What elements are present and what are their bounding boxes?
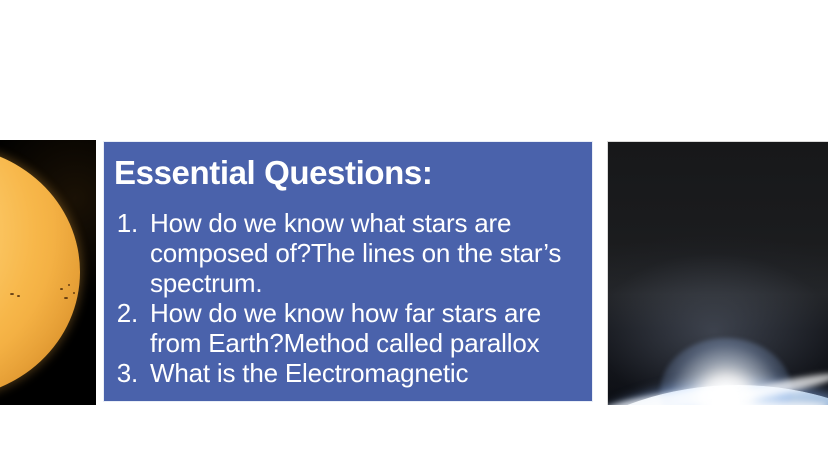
sunspot — [68, 284, 70, 286]
sunspot — [73, 292, 75, 294]
sun-photograph — [0, 140, 96, 405]
sunspot — [17, 295, 20, 297]
list-item-text: How do we know what stars are composed o… — [150, 208, 582, 298]
essential-questions-list: 1. How do we know what stars are compose… — [104, 208, 593, 388]
slide-canvas: Essential Questions: 1. How do we know w… — [0, 0, 828, 466]
list-item: 2. How do we know how far stars are from… — [104, 298, 593, 358]
list-item-text: What is the Electromagnetic — [150, 358, 582, 388]
sunspot — [10, 293, 14, 295]
list-item: 1. How do we know what stars are compose… — [104, 208, 593, 298]
list-item: 3. What is the Electromagnetic — [104, 358, 593, 388]
list-item-number: 2. — [104, 298, 138, 328]
sunspot — [64, 297, 68, 299]
list-item-number: 3. — [104, 358, 138, 388]
list-item-text: How do we know how far stars are from Ea… — [150, 298, 582, 358]
page-title: Essential Questions: — [114, 156, 584, 191]
essential-questions-panel: Essential Questions: 1. How do we know w… — [103, 141, 593, 402]
earth-from-space-photograph — [607, 141, 828, 405]
list-item-number: 1. — [104, 208, 138, 238]
sunspot — [60, 288, 63, 290]
